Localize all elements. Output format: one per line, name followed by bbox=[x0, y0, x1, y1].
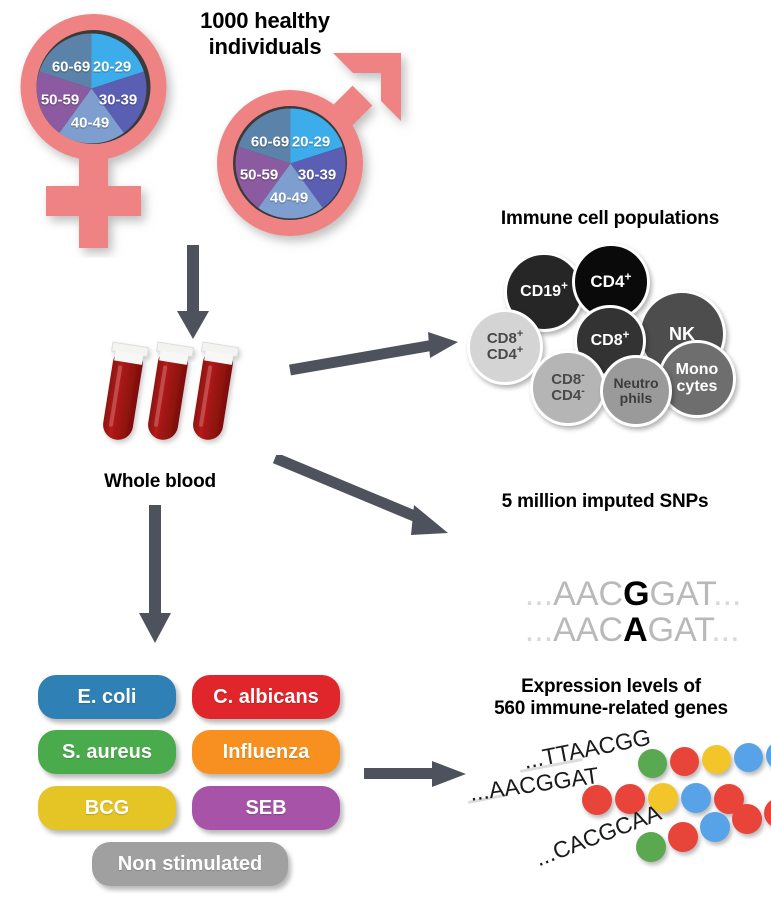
snps-title: 5 million imputed SNPs bbox=[455, 491, 755, 513]
male-age-pie: 20-29 30-39 40-49 50-59 60-69 bbox=[235, 108, 346, 219]
gene-strand-1-bead bbox=[766, 741, 771, 770]
gene-strand-3-bead bbox=[668, 822, 698, 852]
stimulation-seb-label: SEB bbox=[245, 797, 286, 820]
immune-cell-cd8-line-1: CD8+ bbox=[591, 333, 630, 350]
expression-levels-title-line-2: 560 immune-related genes bbox=[452, 698, 770, 720]
stimulation-s-aureus-label: S. aureus bbox=[62, 741, 152, 764]
snp-row-2-suffix: ... bbox=[711, 611, 739, 649]
expression-levels-title: Expression levels of 560 immune-related … bbox=[452, 676, 770, 721]
stimulation-c-albicans-label: C. albicans bbox=[213, 686, 319, 709]
pie-label-60-69: 60-69 bbox=[251, 134, 289, 151]
snp-row-2-variant: A bbox=[623, 611, 648, 649]
immune-cell-cd8-cd4-negative-line-1: CD8- bbox=[551, 372, 585, 388]
pie-label-20-29: 20-29 bbox=[292, 134, 330, 151]
gene-strand-3-bead bbox=[636, 832, 666, 862]
pie-label-30-39: 30-39 bbox=[99, 92, 137, 109]
stimulation-non-stimulated-label: Non stimulated bbox=[118, 853, 262, 876]
pie-label-50-59: 50-59 bbox=[41, 92, 79, 109]
stimulation-e-coli-label: E. coli bbox=[78, 686, 137, 709]
stimulation-non-stimulated[interactable]: Non stimulated bbox=[92, 842, 288, 886]
blood-tube bbox=[143, 342, 194, 442]
stimulation-c-albicans[interactable]: C. albicans bbox=[192, 675, 340, 719]
blood-tubes bbox=[96, 340, 251, 460]
arrow-stimuli-to-genes bbox=[364, 758, 468, 790]
gene-strand-1-bead bbox=[638, 749, 667, 778]
pie-label-20-29: 20-29 bbox=[93, 59, 131, 76]
stimulation-influenza-label: Influenza bbox=[223, 741, 310, 764]
immune-cell-neutrophils-line-1: Neutro bbox=[613, 376, 658, 391]
female-age-pie: 20-29 30-39 40-49 50-59 60-69 bbox=[36, 33, 147, 144]
stimulation-bcg[interactable]: BCG bbox=[38, 786, 176, 830]
snp-row-2-right: GAT bbox=[648, 611, 712, 649]
snp-row-2-prefix: ... bbox=[525, 611, 553, 649]
pie-label-30-39: 30-39 bbox=[298, 167, 336, 184]
immune-cell-neutrophils-line-2: phils bbox=[613, 391, 658, 406]
pie-label-40-49: 40-49 bbox=[71, 115, 109, 132]
snp-row-2-left: AAC bbox=[553, 611, 623, 649]
blood-tube bbox=[188, 342, 239, 442]
pie-label-60-69: 60-69 bbox=[52, 59, 90, 76]
immune-cell-monocytes-line-1: Mono bbox=[676, 362, 719, 379]
immune-cell-cd8-cd4-negative-line-2: CD4- bbox=[551, 388, 585, 404]
arrow-blood-to-immune bbox=[288, 332, 460, 378]
figure-title-line-1: 1000 healthy bbox=[175, 8, 355, 34]
snp-sequence-row-2: ...AACAGAT... bbox=[487, 572, 740, 689]
immune-cell-cd8-cd4-positive-line-2: CD4+ bbox=[487, 347, 523, 363]
gene-strand-3-bead bbox=[700, 812, 730, 842]
figure-canvas: 1000 healthy individuals bbox=[0, 0, 771, 922]
blood-tube bbox=[98, 342, 149, 442]
expression-levels-title-line-1: Expression levels of bbox=[452, 676, 770, 698]
immune-cell-neutrophils: Neutro phils bbox=[600, 355, 672, 427]
stimulation-influenza[interactable]: Influenza bbox=[192, 730, 340, 774]
whole-blood-label: Whole blood bbox=[80, 471, 240, 493]
immune-cell-cd4-line-1: CD4+ bbox=[590, 273, 631, 291]
gene-strand-1-bead bbox=[734, 743, 763, 772]
immune-cell-cd8-cd4-negative: CD8- CD4- bbox=[530, 350, 606, 426]
gene-strand-1-bead bbox=[670, 747, 699, 776]
gene-strand-3: ...CACGCAA bbox=[540, 802, 770, 882]
arrow-blood-to-snps bbox=[272, 455, 460, 545]
stimulation-seb[interactable]: SEB bbox=[192, 786, 340, 830]
stimulation-s-aureus[interactable]: S. aureus bbox=[38, 730, 176, 774]
pie-label-50-59: 50-59 bbox=[240, 167, 278, 184]
immune-cell-monocytes-line-2: cytes bbox=[676, 379, 719, 396]
stimulation-bcg-label: BCG bbox=[85, 797, 129, 820]
arrow-cohort-to-blood bbox=[173, 245, 213, 341]
gene-strand-1-bead bbox=[702, 745, 731, 774]
arrow-blood-to-stimuli bbox=[135, 505, 175, 645]
stimulation-e-coli[interactable]: E. coli bbox=[38, 675, 176, 719]
pie-label-40-49: 40-49 bbox=[270, 190, 308, 207]
gene-strand-3-bead bbox=[732, 804, 762, 834]
gene-strand-3-bead bbox=[764, 798, 771, 828]
immune-cell-populations-title: Immune cell populations bbox=[455, 208, 765, 230]
immune-cell-cd19-line-1: CD19+ bbox=[520, 284, 568, 301]
